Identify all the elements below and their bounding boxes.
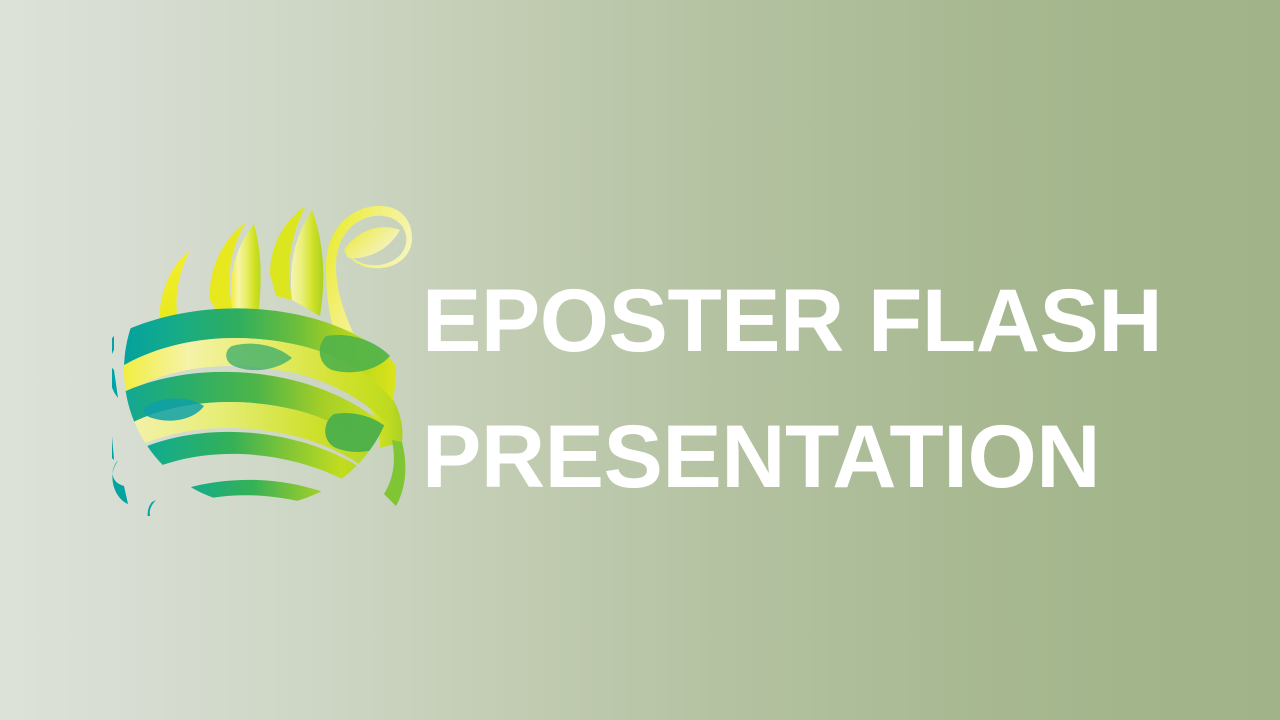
ribbon-tail-right	[384, 440, 405, 506]
ribbon-leaf-curl	[326, 206, 412, 336]
ribbon-band-4	[156, 480, 396, 516]
headline-line-2: PRESENTATION	[422, 388, 1222, 524]
presentation-title-slide: EPOSTER FLASH PRESENTATION	[0, 0, 1280, 720]
globe-ribbons	[112, 206, 412, 516]
slide-headline: EPOSTER FLASH PRESENTATION	[422, 252, 1222, 524]
ribbon-leaf-blade	[344, 227, 400, 258]
ribbon-cap-4	[148, 500, 166, 516]
ribbon-cap-1	[112, 336, 118, 398]
headline-line-1: EPOSTER FLASH	[422, 252, 1222, 388]
eposter-globe-ribbon-logo	[112, 204, 412, 516]
ribbon-cap-3	[112, 460, 128, 504]
ribbon-cap-2	[112, 400, 114, 460]
